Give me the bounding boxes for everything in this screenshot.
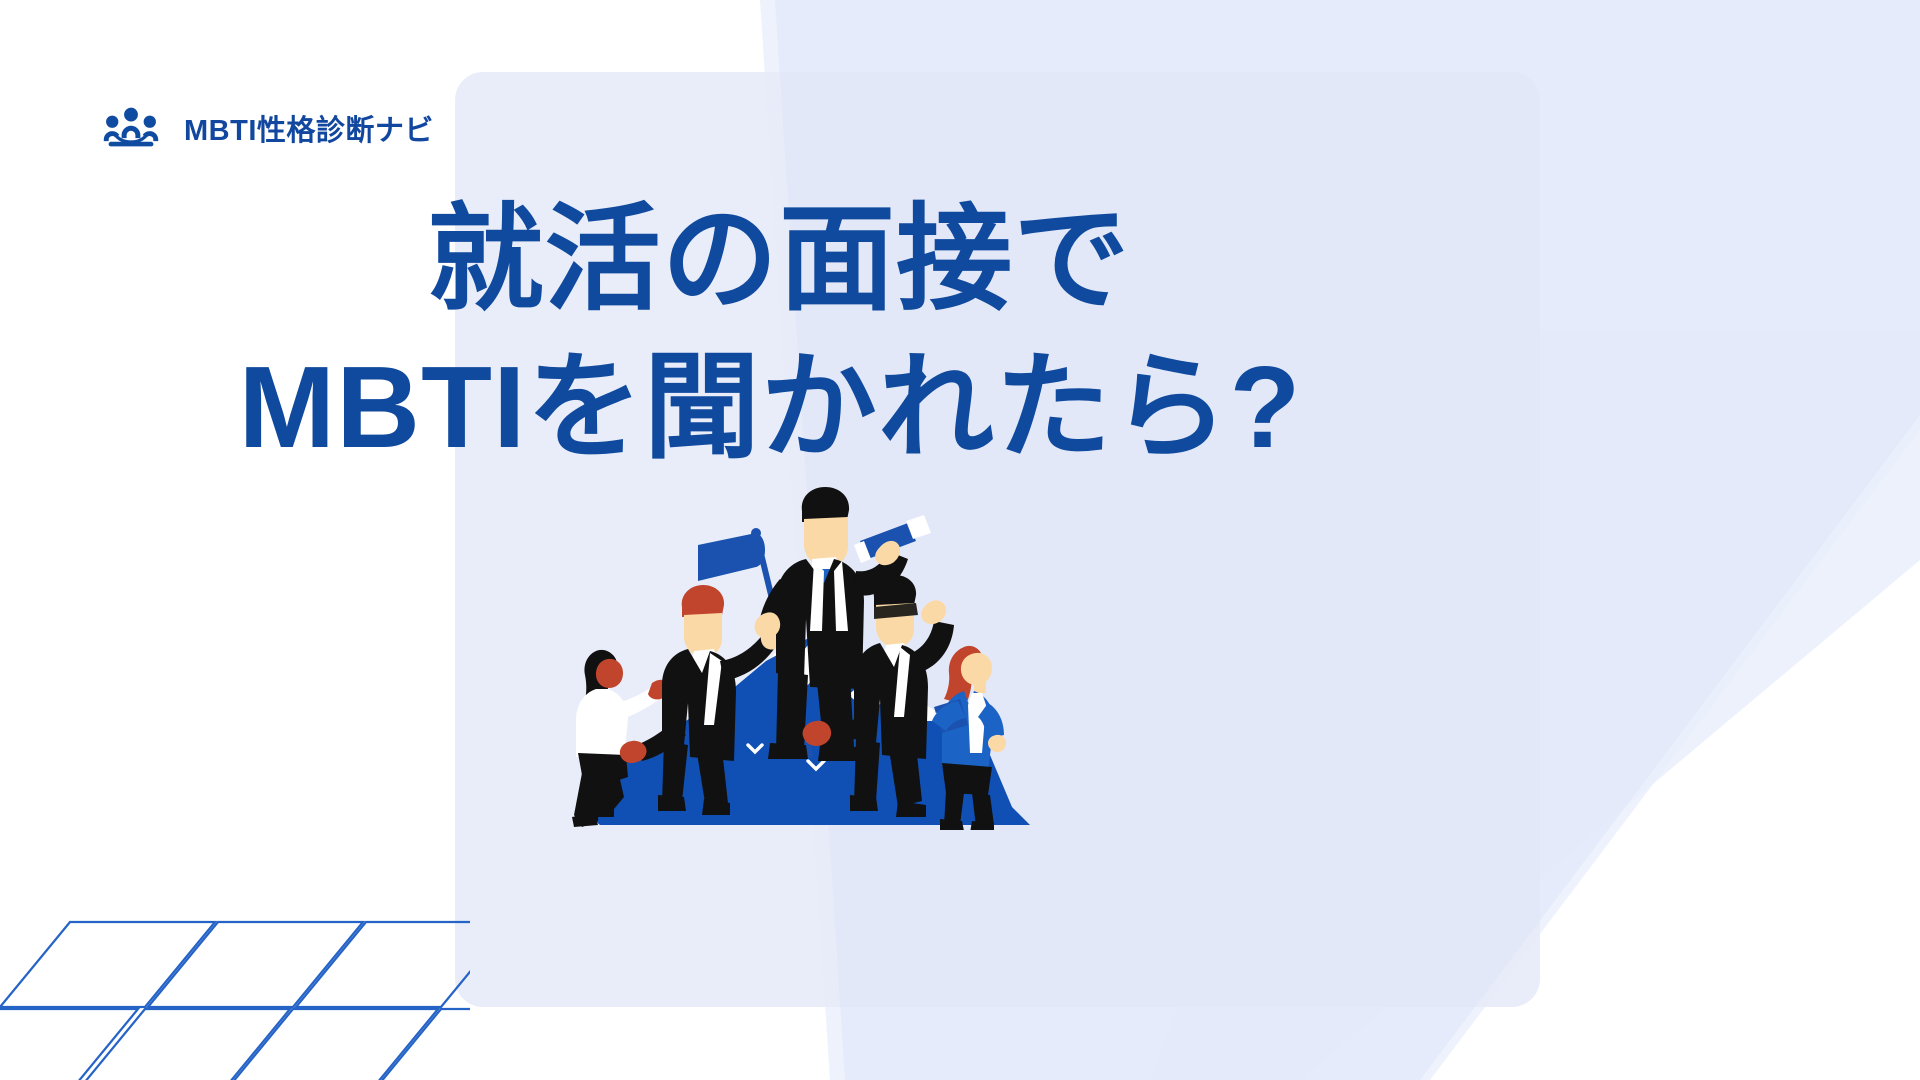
flag-cloth [698, 533, 765, 581]
people-group-icon [100, 105, 162, 151]
page-title: 就活の面接で MBTIを聞かれたら? [0, 185, 1540, 482]
page-title-line-1: 就活の面接で [18, 185, 1540, 333]
thumbnail-canvas: MBTI性格診断ナビ 就活の面接で MBTIを聞かれたら? [0, 0, 1920, 1080]
brand-name-label: MBTI性格診断ナビ [184, 107, 434, 149]
parallelogram-pattern [0, 912, 470, 1080]
page-title-line-2: MBTIを聞かれたら? [0, 333, 1540, 481]
brand-logo[interactable]: MBTI性格診断ナビ [100, 105, 434, 151]
business-team-summit-illustration [560, 455, 1080, 830]
